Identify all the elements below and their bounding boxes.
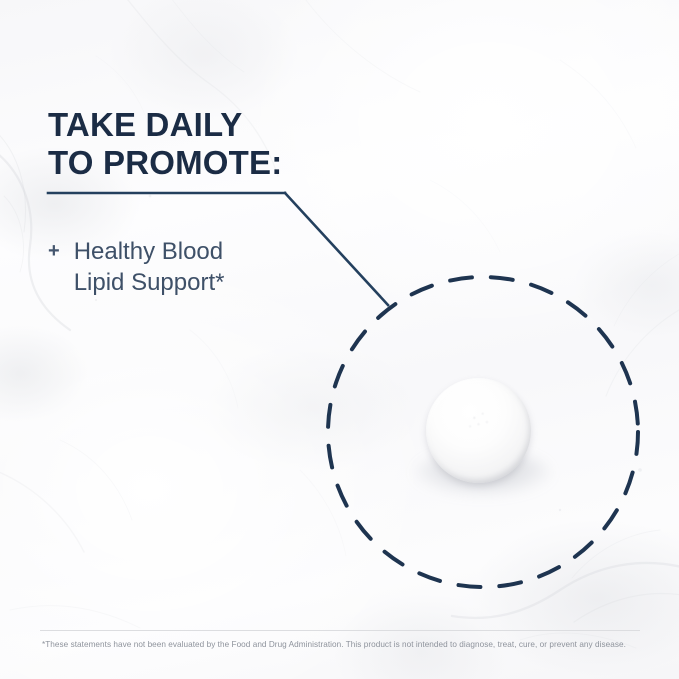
tablet-texture [426,378,531,483]
callout-graphics [0,0,679,679]
product-tablet [426,378,531,483]
product-infographic: TAKE DAILY TO PROMOTE: + Healthy Blood L… [0,0,679,679]
list-item: + Healthy Blood Lipid Support* [48,236,224,298]
benefit-label: Healthy Blood Lipid Support* [74,236,225,298]
footer-divider [40,630,640,631]
plus-icon: + [48,236,60,266]
leader-line [285,193,388,305]
benefits-list: + Healthy Blood Lipid Support* [48,236,224,298]
fda-disclaimer: *These statements have not been evaluate… [42,639,642,650]
